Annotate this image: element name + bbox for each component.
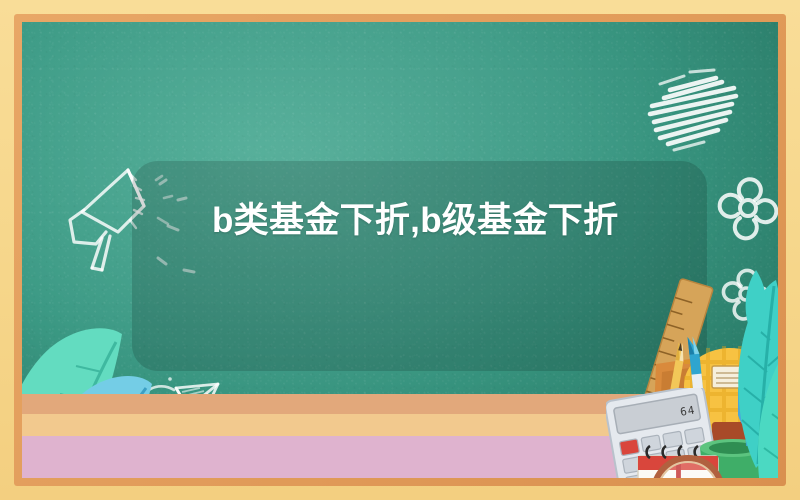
- leaf-right-small: [722, 266, 778, 336]
- chalkboard: b类基金下折,b级基金下折: [22, 22, 778, 478]
- cover-image: b类基金下折,b级基金下折: [0, 0, 800, 500]
- calculator-display: 64: [679, 403, 696, 418]
- page-title: b类基金下折,b级基金下折: [212, 198, 652, 244]
- paper-sheets-bottom: [590, 466, 700, 478]
- leaf-right-broad: [740, 322, 778, 478]
